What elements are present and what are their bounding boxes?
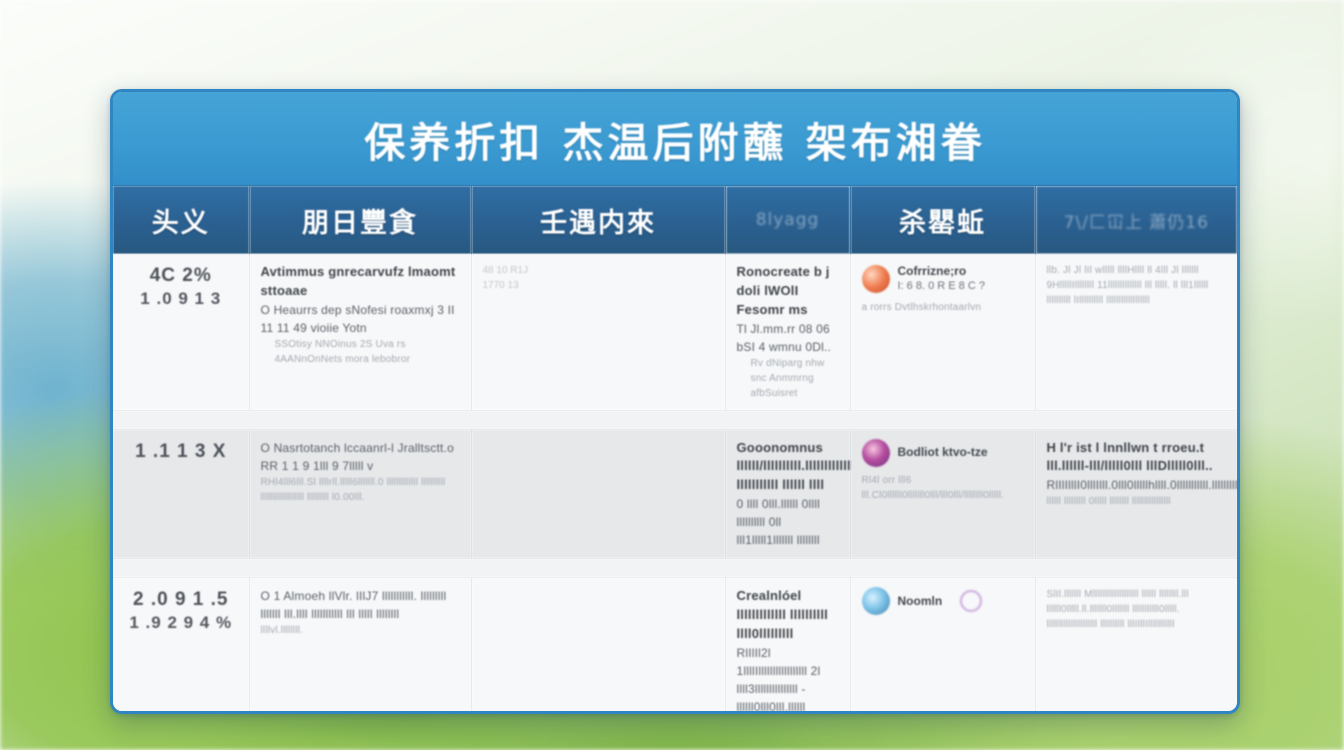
- cell-notes-line: RlIlIlllI0lllIlll.0lll0lllllhllll.0lllll…: [1047, 476, 1227, 494]
- cell-description-line: Avtimmus gnrecarvufz lmaomt sttoaae: [261, 263, 460, 301]
- cell-description-line: SSOtisy NNOinus 2S Uva rs 4AANnOnNets mo…: [275, 337, 460, 367]
- cell-description-line: RHl4lll6lll.Sl llllrll.lllll6lllllll.0 l…: [261, 475, 460, 505]
- avatar: [862, 439, 890, 467]
- cell-description: O 1 Almoeh llVlr. lIlJ7 lllllllllll. lll…: [249, 578, 471, 714]
- column-header-2[interactable]: 朋日豐貪: [249, 186, 471, 254]
- metric-subvalue: 1 .9 2 9 4 %: [124, 613, 238, 633]
- table-row[interactable]: 1 .1 1 3 XO Nasrtotanch lccaanrl-l Jrall…: [113, 429, 1237, 559]
- metric-value: 4C 2%: [124, 263, 238, 289]
- cell-notes: SlIl.lllllll Mlllllllllllllllllll llllll…: [1035, 578, 1237, 714]
- avatar-label: Noomln: [898, 593, 943, 609]
- table-header-row: 头义 朋日豐貪 壬遇内來 8lyagg 杀罌蚯 7\/匚冚上 蕭仍16: [113, 186, 1237, 254]
- row-spacer: [113, 559, 1237, 578]
- cell-details: Ronocreate b j doli lWOlI Fesomr msTl Jl…: [725, 254, 850, 410]
- cell-description-line: llllvl.llllllll.: [261, 623, 460, 638]
- metric-value: 2 .0 9 1 .5: [124, 587, 238, 613]
- avatar-entry[interactable]: Noomln: [862, 587, 1024, 615]
- cell-notes-line: llllll lllllllll 0lllll llllllll lllllll…: [1047, 494, 1227, 509]
- cell-code-line: 1770 13: [483, 278, 714, 293]
- cell-details-line: Gooonomnus llllll/llllllllll.lllllllllll…: [737, 439, 839, 496]
- cell-people: Noomln: [850, 578, 1035, 714]
- cell-people-line: Rl4l orr lll6 lll.Cl0llllll0lllllll0lll/…: [862, 473, 1024, 503]
- cell-description: Avtimmus gnrecarvufz lmaomt sttoaaeO Hea…: [249, 254, 471, 410]
- column-header-metric[interactable]: 头义: [113, 186, 249, 254]
- avatar: [862, 265, 890, 293]
- avatar: [862, 587, 890, 615]
- avatar-ring-icon: [960, 590, 982, 612]
- cell-details-line: RlIlIl2l 1llllIlllllllllllllllll 2l llll…: [737, 644, 839, 714]
- column-header-5[interactable]: 杀罌蚯: [850, 186, 1035, 254]
- column-header-6[interactable]: 7\/匚冚上 蕭仍16: [1035, 186, 1237, 254]
- cell-code: 48 10 R1J1770 13: [471, 254, 725, 410]
- metric-value: 1 .1 1 3 X: [124, 439, 238, 465]
- cell-details-line: Crealnlóel lllllllllllll llllllllll llll…: [737, 587, 839, 644]
- comparison-table: 头义 朋日豐貪 壬遇内來 8lyagg 杀罌蚯 7\/匚冚上 蕭仍16 4C 2…: [113, 186, 1237, 714]
- cell-notes-line: lllllllllllllllllllll llllllllll lllIlll…: [1047, 617, 1227, 632]
- column-header-3[interactable]: 壬遇内來: [471, 186, 725, 254]
- cell-details-line: 0 llll 0lll.llllll 0llll llllllllll 0ll …: [737, 495, 839, 549]
- table-body: 4C 2%1 .0 9 1 3Avtimmus gnrecarvufz lmao…: [113, 254, 1237, 714]
- cell-notes-line: llb. Jl Jl lIl wlllll llllHllll ll 4lll …: [1047, 263, 1227, 293]
- cell-metric: 2 .0 9 1 .51 .9 2 9 4 %: [113, 578, 249, 714]
- row-spacer-cell: [113, 559, 1237, 578]
- cell-metric: 4C 2%1 .0 9 1 3: [113, 254, 249, 410]
- cell-people-line: a rorrs Dvtlhskrhontaarlvn: [862, 300, 1024, 315]
- cell-notes: llb. Jl Jl lIl wlllll llllHllll ll 4lll …: [1035, 254, 1237, 410]
- avatar-sublabel: I: 6 8. 0 R E 8 C ?: [898, 279, 985, 294]
- avatar-entry[interactable]: Bodliot ktvo-tze: [862, 439, 1024, 467]
- cell-people: Bodliot ktvo-tzeRl4l orr lll6 lll.Cl0lll…: [850, 429, 1035, 559]
- page-title: 保养折扣 杰温后附蘸 架布湘眷: [364, 109, 986, 169]
- row-spacer: [113, 410, 1237, 429]
- cell-details-line: Ronocreate b j doli lWOlI Fesomr ms: [737, 263, 839, 320]
- cell-details: Gooonomnus llllll/llllllllll.lllllllllll…: [725, 429, 850, 559]
- avatar-label: Bodliot ktvo-tze: [898, 444, 988, 460]
- cell-code: [471, 578, 725, 714]
- cell-notes-line: SlIl.lllllll Mlllllllllllllllllll llllll…: [1047, 587, 1227, 617]
- cell-notes: H l'r ist l lnnllwn t rroeu.t lll.llllll…: [1035, 429, 1237, 559]
- cell-description: O Nasrtotanch lccaanrl-l Jralltsctt.o RR…: [249, 429, 471, 559]
- cell-notes-line: llllllllll lIllllllllll llllllllllllllll…: [1047, 293, 1227, 308]
- cell-description-line: O Nasrtotanch lccaanrl-l Jralltsctt.o RR…: [261, 439, 460, 475]
- cell-details-line: Rv dNiparg nhw snc Anmmrng afbSuisret: [751, 356, 839, 401]
- cell-details-line: Tl Jl.mm.rr 08 06 bSI 4 wmnu 0Dl..: [737, 320, 839, 356]
- cell-notes-line: H l'r ist l lnnllwn t rroeu.t lll.llllll…: [1047, 439, 1227, 477]
- cell-description-line: O Heaurrs dep sNofesi roaxmxj 3 II 11 11…: [261, 301, 460, 337]
- avatar-entry[interactable]: Cofrrizne;roI: 6 8. 0 R E 8 C ?: [862, 263, 1024, 294]
- comparison-table-card: 保养折扣 杰温后附蘸 架布湘眷 头义 朋日豐貪 壬遇内來 8lyagg 杀罌蚯 …: [110, 89, 1240, 714]
- cell-code: [471, 429, 725, 559]
- table-row[interactable]: 4C 2%1 .0 9 1 3Avtimmus gnrecarvufz lmao…: [113, 254, 1237, 410]
- cell-details: Crealnlóel lllllllllllll llllllllll llll…: [725, 578, 850, 714]
- card-title-bar: 保养折扣 杰温后附蘸 架布湘眷: [113, 92, 1237, 186]
- cell-metric: 1 .1 1 3 X: [113, 429, 249, 559]
- table-row[interactable]: 2 .0 9 1 .51 .9 2 9 4 %O 1 Almoeh llVlr.…: [113, 578, 1237, 714]
- row-spacer-cell: [113, 410, 1237, 429]
- cell-description-line: O 1 Almoeh llVlr. lIlJ7 lllllllllll. lll…: [261, 587, 460, 623]
- column-header-4[interactable]: 8lyagg: [725, 186, 850, 254]
- cell-code-line: 48 10 R1J: [483, 263, 714, 278]
- avatar-label: Cofrrizne;roI: 6 8. 0 R E 8 C ?: [898, 263, 985, 294]
- cell-people: Cofrrizne;roI: 6 8. 0 R E 8 C ?a rorrs D…: [850, 254, 1035, 410]
- metric-subvalue: 1 .0 9 1 3: [124, 289, 238, 309]
